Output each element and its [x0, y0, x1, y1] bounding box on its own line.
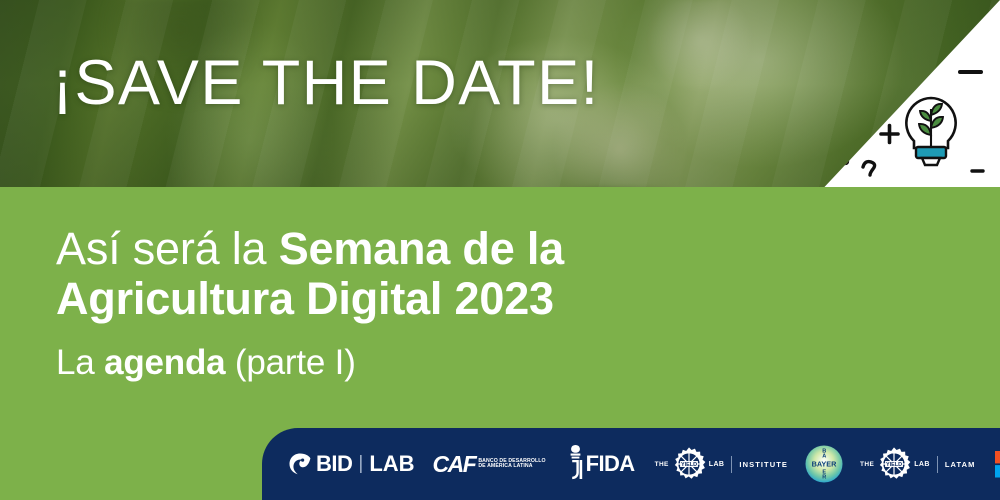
- bid-globe-icon: [288, 452, 312, 476]
- lab-wordmark: LAB: [369, 451, 414, 477]
- page-title: Así será la Semana de la Agricultura Dig…: [56, 224, 796, 325]
- bid-wordmark: BID: [316, 451, 352, 477]
- logo-caf[interactable]: CAF BANCO DE DESARROLLO DE AMÉRICA LATIN…: [433, 451, 546, 478]
- subhead-emphasis: agenda: [104, 343, 225, 382]
- subhead-suffix: (parte I): [225, 343, 355, 382]
- yield-lab-lab-word: LAB: [709, 461, 725, 468]
- logo-fida[interactable]: FIDA: [566, 444, 635, 484]
- caf-wordmark: CAF: [433, 451, 476, 478]
- microsoft-squares-icon: [995, 451, 1000, 478]
- yield-lab-latam-word: LATAM: [945, 460, 976, 469]
- caf-tagline-line2: DE AMÉRICA LATINA: [478, 464, 545, 469]
- yield-lab-gear-icon: YIELD: [672, 447, 706, 481]
- partner-logo-bar: BID | LAB CAF BANCO DE DESARROLLO DE AMÉ…: [262, 428, 1000, 500]
- fida-emblem-icon: [566, 444, 585, 484]
- page-subtitle: La agenda (parte I): [56, 343, 356, 383]
- bayer-horizontal-text: BAYER: [812, 459, 838, 468]
- yield-latam-mark-text: YIELD: [886, 462, 902, 468]
- bayer-cross-icon: BAYER B A E R: [804, 444, 844, 484]
- subhead-prefix: La: [56, 343, 104, 382]
- yield-lab-latam-the-prefix: THE: [860, 461, 874, 468]
- logo-yield-lab-latam[interactable]: THE YIELD LAB LATAM: [860, 447, 975, 481]
- yield-lab-latam-gear-icon: YIELD: [877, 447, 911, 481]
- logo-yield-lab-institute[interactable]: THE YIELD LAB INSTITUTE: [655, 447, 788, 481]
- bayer-letter-a: A: [822, 454, 826, 460]
- bayer-letter-r: R: [822, 475, 826, 481]
- yield-lab-institute-word: INSTITUTE: [739, 460, 788, 469]
- caf-tagline: BANCO DE DESARROLLO DE AMÉRICA LATINA: [478, 459, 545, 470]
- headline-prefix: Así será la: [56, 223, 279, 274]
- save-the-date-title: ¡SAVE THE DATE!: [52, 52, 600, 115]
- yield-lab-the-prefix: THE: [655, 461, 669, 468]
- logo-microsoft[interactable]: Microsoft: [995, 451, 1000, 478]
- save-the-date-banner: ¡SAVE THE DATE!: [0, 0, 1000, 500]
- lightbulb-with-plant-icon: [906, 98, 955, 165]
- yield-lab-latam-lab-word: LAB: [914, 461, 930, 468]
- yield-mark-text: YIELD: [681, 462, 697, 468]
- question-curve-icon: [863, 162, 875, 175]
- logo-bid-lab[interactable]: BID | LAB: [288, 451, 415, 477]
- yield-lab-latam-divider: [937, 456, 938, 473]
- bid-divider: |: [358, 453, 363, 475]
- logo-bayer[interactable]: BAYER B A E R: [804, 444, 844, 484]
- fida-wordmark: FIDA: [586, 451, 635, 477]
- yield-lab-divider: [731, 456, 732, 473]
